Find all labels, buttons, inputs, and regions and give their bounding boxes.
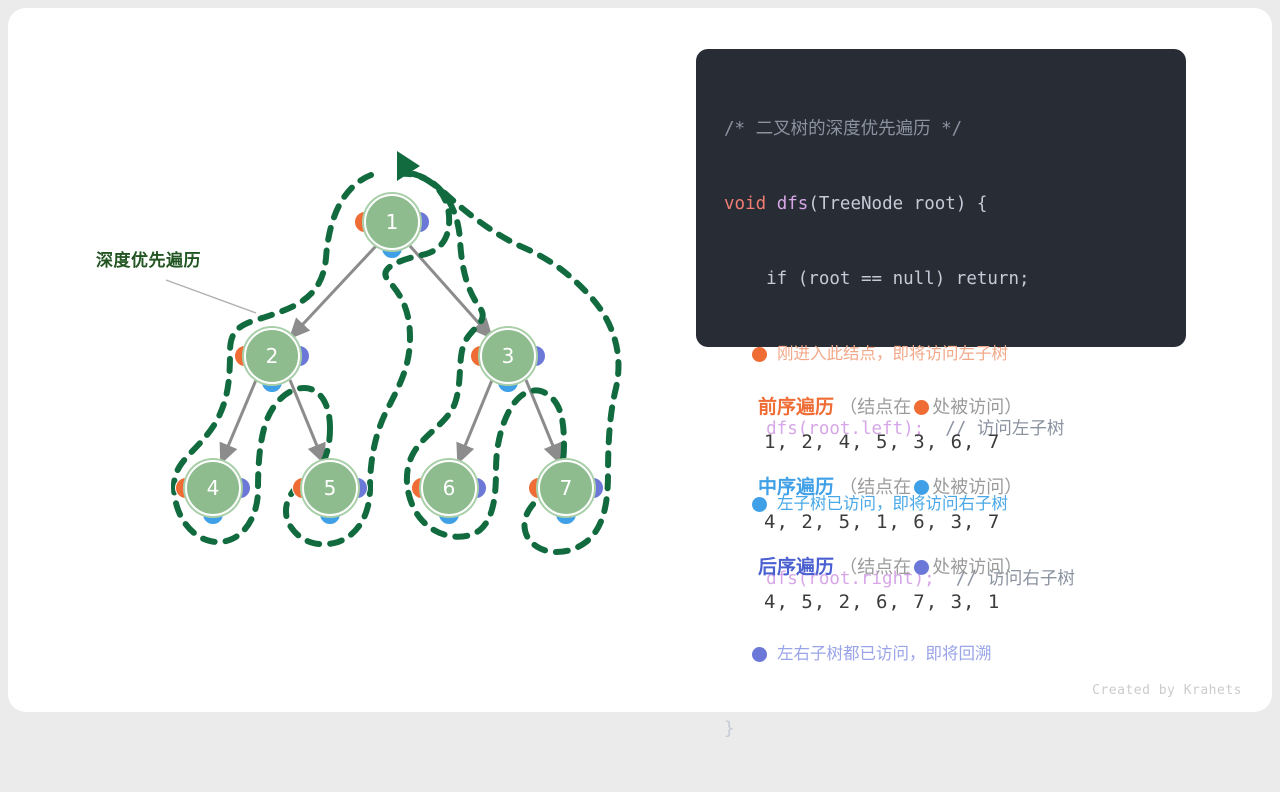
tree-node-label: 7 (538, 460, 594, 516)
code-fn-dfs: dfs (766, 194, 808, 214)
result-note-prefix: （结点在 (839, 557, 911, 577)
postorder-dot-icon (914, 560, 929, 575)
result-note-prefix: （结点在 (839, 477, 911, 497)
traversal-results: 前序遍历 （结点在处被访问） 1, 2, 4, 5, 3, 6, 7 中序遍历 … (758, 392, 1188, 632)
footer-credit: Created by Krahets (1092, 683, 1242, 698)
dfs-label: 深度优先遍历 (96, 246, 201, 271)
code-signature-rest: (TreeNode root) { (808, 194, 987, 214)
postorder-dot-icon (752, 647, 767, 662)
code-bullet-preorder: 刚进入此结点，即将访问左子树 (724, 342, 1186, 367)
result-title: 后序遍历 (758, 557, 834, 578)
preorder-dot-icon (752, 347, 767, 362)
result-sequence: 1, 2, 4, 5, 3, 6, 7 (758, 423, 1188, 461)
code-bullet-postorder: 左右子树都已访问，即将回溯 (724, 642, 1186, 667)
result-group-inorder: 中序遍历 （结点在处被访问） 4, 2, 5, 1, 6, 3, 7 (758, 472, 1188, 541)
code-line-close-brace: } (724, 717, 1186, 742)
tree-node-label: 2 (244, 328, 300, 384)
result-title: 前序遍历 (758, 397, 834, 418)
code-bullet-postorder-text: 左右子树都已访问，即将回溯 (777, 642, 992, 667)
result-sequence: 4, 2, 5, 1, 6, 3, 7 (758, 503, 1188, 541)
result-heading: 中序遍历 （结点在处被访问） (758, 472, 1188, 503)
code-bullet-preorder-text: 刚进入此结点，即将访问左子树 (777, 342, 1008, 367)
tree-diagram-panel: 深度优先遍历 1 2 3 4 (8, 8, 678, 712)
result-note-suffix: 处被访问） (932, 477, 1022, 497)
code-line-nullcheck: if (root == null) return; (724, 267, 1186, 292)
result-note-suffix: 处被访问） (932, 557, 1022, 577)
code-line-comment: /* 二叉树的深度优先遍历 */ (724, 117, 1186, 142)
result-sequence: 4, 5, 2, 6, 7, 3, 1 (758, 583, 1188, 621)
label-leader-line (166, 280, 256, 313)
tree-node-label: 1 (364, 194, 420, 250)
inorder-dot-icon (914, 480, 929, 495)
code-keyword-void: void (724, 194, 766, 214)
tree-node-label: 6 (421, 460, 477, 516)
result-heading: 后序遍历 （结点在处被访问） (758, 552, 1188, 583)
page-card: 深度优先遍历 1 2 3 4 (8, 8, 1272, 712)
result-title: 中序遍历 (758, 477, 834, 498)
tree-node-label: 3 (480, 328, 536, 384)
code-line-signature: void dfs(TreeNode root) { (724, 192, 1186, 217)
preorder-dot-icon (914, 400, 929, 415)
result-group-preorder: 前序遍历 （结点在处被访问） 1, 2, 4, 5, 3, 6, 7 (758, 392, 1188, 461)
tree-node-label: 5 (302, 460, 358, 516)
result-note-suffix: 处被访问） (932, 397, 1022, 417)
tree-graphics (8, 8, 678, 712)
tree-node-label: 4 (185, 460, 241, 516)
result-heading: 前序遍历 （结点在处被访问） (758, 392, 1188, 423)
code-block: /* 二叉树的深度优先遍历 */ void dfs(TreeNode root)… (696, 49, 1186, 347)
result-group-postorder: 后序遍历 （结点在处被访问） 4, 5, 2, 6, 7, 3, 1 (758, 552, 1188, 621)
result-note-prefix: （结点在 (839, 397, 911, 417)
